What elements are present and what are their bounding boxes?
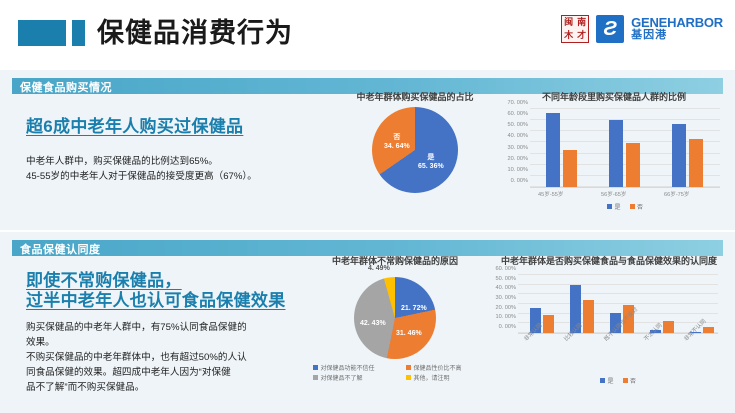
pie-chart-purchase: 是 65. 36% 否 34. 64% xyxy=(372,107,458,193)
section-purchase-panel: 保健食品购买情况 超6成中老年人购买过保健品 中老年人群中，购买保健品的比例达到… xyxy=(0,70,735,230)
pie-slice-label-no: 否 34. 64% xyxy=(384,133,410,151)
gridline xyxy=(518,293,718,294)
y-tick-label: 30. 00% xyxy=(495,295,516,301)
legend-swatch-icon xyxy=(623,378,628,383)
y-tick-label: 40. 00% xyxy=(495,285,516,291)
slide-header: 保健品消费行为 闽 南 木 才 Ƨ GENEHARBOR 基因港 xyxy=(0,0,735,62)
body-text-agreement: 购买保健品的中老年人群中，有75%认同食品保健的 效果。 不购买保健品的中老年群… xyxy=(26,320,316,395)
lead-statement-agreement-line1: 即使不常购保健品， xyxy=(26,270,316,291)
body-text-purchase: 中老年人群中，购买保健品的比例达到65%。 45-55岁的中老年人对于保健品的接… xyxy=(26,154,326,184)
lead-statement-agreement-line2: 过半中老年人也认可食品保健效果 xyxy=(26,290,326,311)
pie-slice-label-yes: 是 65. 36% xyxy=(418,153,444,171)
chart-bar-age: 不同年龄段里购买保健品人群的比例 0. 00% 10. 00% 20. 00% … xyxy=(500,92,728,211)
gridline xyxy=(518,284,718,285)
y-tick-label: 20. 00% xyxy=(507,156,528,162)
x-tick-label: 45岁-55岁 xyxy=(538,190,564,198)
swoosh-glyph: Ƨ xyxy=(603,19,616,39)
y-tick-label: 20. 00% xyxy=(495,305,516,311)
gridline xyxy=(518,303,718,304)
bar-agree2-no xyxy=(583,300,594,333)
y-tick-label: 50. 00% xyxy=(495,276,516,282)
y-tick-label: 60. 00% xyxy=(495,266,516,272)
page-title: 保健品消费行为 xyxy=(97,14,293,52)
chart-title-bar-age: 不同年龄段里购买保健品人群的比例 xyxy=(500,92,728,103)
legend-swatch-icon xyxy=(406,365,411,370)
legend-label: 否 xyxy=(630,376,636,385)
legend-bar-agreement: 是 否 xyxy=(518,376,718,385)
chart-title-pie-reason: 中老年群体不常购保健品的原因 xyxy=(305,256,485,267)
bar-agree5-no xyxy=(703,327,714,333)
legend-label: 是 xyxy=(607,376,613,385)
logo-group: 闽 南 木 才 Ƨ GENEHARBOR 基因港 xyxy=(561,12,723,46)
legend-label: 保健品性价比不高 xyxy=(414,363,462,372)
x-tick-label: 56岁-65岁 xyxy=(601,190,627,198)
legend-pie-reason: 对保健品功能不信任 保健品性价比不高 对保健品不了解 其他，请注明 xyxy=(313,363,485,382)
lead-statement-purchase: 超6成中老年人购买过保健品 xyxy=(26,116,326,137)
seal-char-1: 闽 xyxy=(562,16,575,29)
bar-age2-yes xyxy=(609,120,623,187)
y-tick-label: 60. 00% xyxy=(507,111,528,117)
brand-name-en: GENEHARBOR xyxy=(631,16,723,30)
bar-age3-yes xyxy=(672,124,686,188)
legend-item-yes[interactable]: 是 xyxy=(607,202,621,211)
seal-char-4: 才 xyxy=(575,29,588,42)
legend-item-price[interactable]: 保健品性价比不高 xyxy=(406,363,485,372)
bar-age2-no xyxy=(626,143,640,187)
pie-value-price: 31. 46% xyxy=(396,329,422,338)
y-tick-label: 40. 00% xyxy=(507,133,528,139)
legend-swatch-icon xyxy=(406,375,411,380)
pie-chart-reason: 21. 72% 31. 46% 42. 43% 4. 49% xyxy=(354,277,436,359)
chart-title-bar-agreement: 中老年群体是否购买保健食品与食品保健效果的认同度 xyxy=(486,256,732,267)
seal-stamp-icon: 闽 南 木 才 xyxy=(561,15,589,43)
pie-slice-name-yes: 是 xyxy=(427,154,434,161)
legend-label: 否 xyxy=(637,202,643,211)
chart-bar-agreement: 中老年群体是否购买保健食品与食品保健效果的认同度 0. 00% 10. 00% … xyxy=(486,256,732,385)
legend-label: 对保健品不了解 xyxy=(321,373,363,382)
chart-pie-reason: 中老年群体不常购保健品的原因 21. 72% 31. 46% 42. 43% 4… xyxy=(305,256,485,382)
legend-item-other[interactable]: 其他，请注明 xyxy=(406,373,485,382)
pie-slice-value-no: 34. 64% xyxy=(384,143,410,150)
legend-label: 对保健品功能不信任 xyxy=(321,363,375,372)
brand-text: GENEHARBOR 基因港 xyxy=(631,16,723,41)
legend-swatch-icon xyxy=(313,365,318,370)
chart-title-pie-purchase: 中老年群体购买保健品的占比 xyxy=(345,92,485,103)
pie-value-unknown: 42. 43% xyxy=(360,319,386,328)
bar-age3-no xyxy=(689,139,703,187)
plot-area-bar-age: 0. 00% 10. 00% 20. 00% 30. 00% 40. 00% 5… xyxy=(530,109,720,188)
seal-char-3: 木 xyxy=(562,29,575,42)
legend-swatch-icon xyxy=(607,204,612,209)
y-tick-label: 30. 00% xyxy=(507,145,528,151)
y-tick-label: 10. 00% xyxy=(507,167,528,173)
legend-label: 是 xyxy=(614,202,620,211)
header-accent-block-large xyxy=(18,20,66,46)
pie-value-other: 4. 49% xyxy=(368,264,390,273)
bar-age1-no xyxy=(563,150,577,187)
chart-pie-purchase: 中老年群体购买保健品的占比 是 65. 36% 否 34. 64% xyxy=(345,92,485,193)
bar-agree4-no xyxy=(663,321,674,333)
legend-item-yes[interactable]: 是 xyxy=(600,376,614,385)
section-agreement-panel: 食品保健认同度 即使不常购保健品， 过半中老年人也认可食品保健效果 购买保健品的… xyxy=(0,232,735,413)
gridline xyxy=(530,108,720,109)
brand-name-cn: 基因港 xyxy=(631,30,723,42)
geneharbor-logo-icon: Ƨ xyxy=(596,15,624,43)
header-accent-block-small xyxy=(72,20,85,46)
pie-value-distrust: 21. 72% xyxy=(401,304,427,313)
bar-age1-yes xyxy=(546,113,560,187)
x-tick-label: 66岁-75岁 xyxy=(664,190,690,198)
legend-swatch-icon xyxy=(600,378,605,383)
legend-item-distrust[interactable]: 对保健品功能不信任 xyxy=(313,363,398,372)
legend-label: 其他，请注明 xyxy=(414,373,450,382)
slide-root: 保健品消费行为 闽 南 木 才 Ƨ GENEHARBOR 基因港 保健食品购买情… xyxy=(0,0,735,413)
legend-item-unknown[interactable]: 对保健品不了解 xyxy=(313,373,398,382)
legend-swatch-icon xyxy=(630,204,635,209)
y-tick-label: 0. 00% xyxy=(511,178,528,184)
section-title-agreement: 食品保健认同度 xyxy=(20,241,101,257)
pie-slice-name-no: 否 xyxy=(393,134,400,141)
legend-swatch-icon xyxy=(313,375,318,380)
bar-agree1-no xyxy=(543,315,554,333)
legend-item-no[interactable]: 否 xyxy=(630,202,644,211)
y-tick-label: 70. 00% xyxy=(507,100,528,106)
legend-bar-age: 是 否 xyxy=(530,202,720,211)
gridline xyxy=(518,274,718,275)
y-tick-label: 50. 00% xyxy=(507,122,528,128)
section-header-bar-agreement: 食品保健认同度 xyxy=(12,240,723,256)
pie-slice-value-yes: 65. 36% xyxy=(418,163,444,170)
section-title-purchase: 保健食品购买情况 xyxy=(20,79,112,95)
x-axis-bar-agreement: 非常认同 比较认同 既不认同也不反对 不太认同 非常不认同 xyxy=(518,334,718,368)
y-tick-label: 0. 00% xyxy=(499,324,516,330)
seal-char-2: 南 xyxy=(575,16,588,29)
x-axis-bar-age: 45岁-55岁 56岁-65岁 66岁-75岁 xyxy=(530,188,720,199)
y-tick-label: 10. 00% xyxy=(495,314,516,320)
legend-item-no[interactable]: 否 xyxy=(623,376,637,385)
